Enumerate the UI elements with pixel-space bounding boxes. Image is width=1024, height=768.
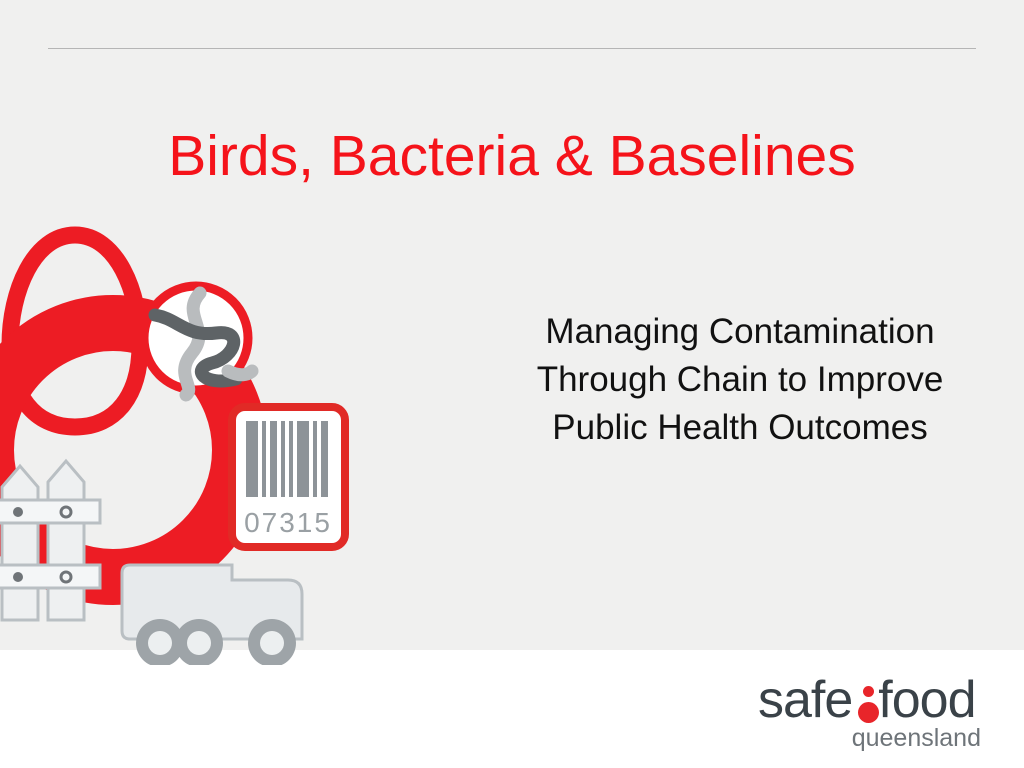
decorative-artwork: 07315 (0, 195, 400, 665)
logo-dot-large-icon (858, 702, 879, 723)
subtitle-line-1: Managing Contamination (480, 308, 1000, 356)
logo-tagline: queensland (852, 724, 981, 752)
header-divider (48, 48, 976, 49)
safefood-logo: safefood queensland (758, 672, 983, 757)
delivery-truck-icon (122, 565, 302, 665)
logo-dot-small-icon (863, 686, 874, 697)
barcode-card-icon: 07315 (232, 407, 345, 547)
slide-subtitle: Managing Contamination Through Chain to … (480, 308, 1000, 452)
logo-word-food: food (878, 671, 975, 729)
presentation-slide: Birds, Bacteria & Baselines Managing Con… (0, 0, 1024, 768)
subtitle-line-2: Through Chain to Improve (480, 356, 1000, 404)
barcode-number: 07315 (244, 507, 332, 538)
picket-fence-icon (0, 461, 100, 620)
dna-badge-icon (144, 286, 252, 395)
slide-title: Birds, Bacteria & Baselines (0, 121, 1024, 191)
subtitle-line-3: Public Health Outcomes (480, 404, 1000, 452)
logo-word-safe: safe (758, 671, 852, 729)
